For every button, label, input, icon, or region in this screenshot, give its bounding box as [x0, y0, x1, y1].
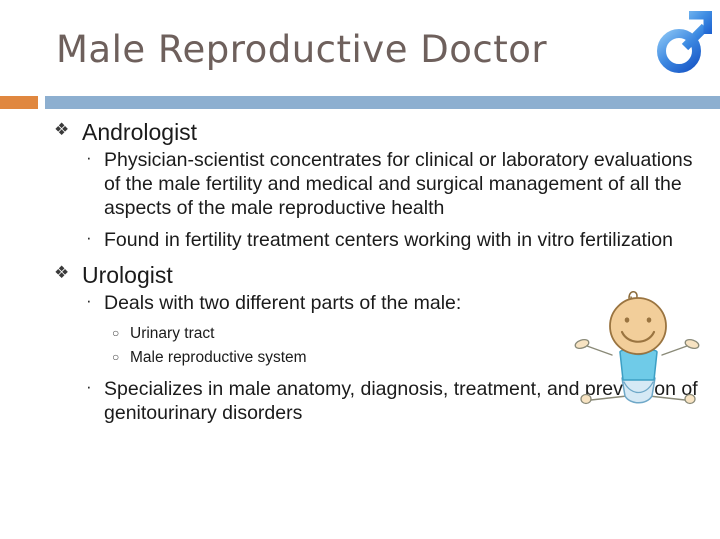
bullet-item-level2: · Found in fertility treatment centers w…: [0, 228, 720, 252]
bullet-marker-circle-icon: ○: [112, 325, 119, 341]
spacer: [0, 222, 720, 226]
bullet-text: Andrologist: [82, 119, 197, 145]
bullet-marker-dot-icon: ·: [86, 290, 92, 313]
slide-canvas: Male Reproductive Doctor: [0, 0, 720, 539]
bullet-text: Urologist: [82, 262, 173, 288]
page-title: Male Reproductive Doctor: [56, 28, 547, 71]
male-gender-symbol-icon: [655, 4, 717, 76]
bullet-marker-diamond-icon: ❖: [54, 262, 69, 284]
bullet-item-level1: ❖ Andrologist: [0, 118, 720, 146]
bullet-text: Found in fertility treatment centers wor…: [104, 229, 673, 251]
bullet-marker-diamond-icon: ❖: [54, 119, 69, 141]
bullet-marker-dot-icon: ·: [86, 227, 92, 250]
bullet-item-level2: · Physician-scientist concentrates for c…: [0, 148, 720, 220]
bullet-marker-dot-icon: ·: [86, 147, 92, 170]
bullet-marker-dot-icon: ·: [86, 376, 92, 399]
cartoon-baby-illustration: [567, 278, 717, 413]
bullet-text: Physician-scientist concentrates for cli…: [104, 149, 693, 219]
bullet-marker-circle-icon: ○: [112, 349, 119, 365]
bullet-text: Male reproductive system: [130, 349, 307, 366]
bullet-text: Urinary tract: [130, 325, 214, 342]
bullet-text: Deals with two different parts of the ma…: [104, 292, 461, 314]
divider-accent-blue: [45, 96, 720, 109]
slide-header: Male Reproductive Doctor: [0, 0, 720, 95]
divider-accent-orange: [0, 96, 38, 109]
spacer: [0, 254, 720, 261]
